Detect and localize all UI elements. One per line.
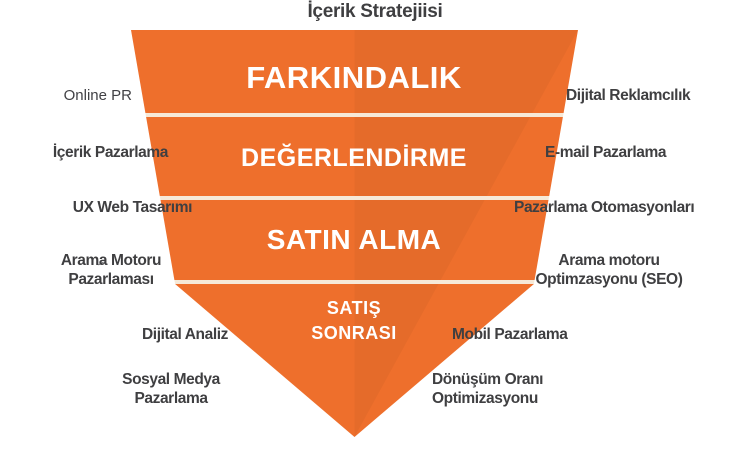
label-ux-web-tasarimi: UX Web Tasarımı — [0, 198, 192, 217]
label-pazarlama-otomasyonlari: Pazarlama Otomasyonları — [514, 198, 750, 217]
label-dijital-analiz: Dijital Analiz — [0, 325, 228, 344]
label-online-pr: Online PR — [0, 86, 132, 105]
funnel-divider-2 — [160, 196, 549, 200]
funnel-band-3-label: SATIN ALMA — [267, 224, 442, 255]
page-title: İçerik Stratejiisi — [0, 1, 750, 23]
funnel-band-4-label-line1: SATIŞ — [327, 298, 381, 318]
label-arama-motoru-optimizasyonu-seo: Arama motoru Optimzasyonu (SEO) — [484, 251, 734, 289]
funnel-band-1-label: FARKINDALIK — [246, 60, 462, 95]
label-email-pazarlama: E-mail Pazarlama — [545, 143, 745, 162]
label-donusum-orani-optimizasyonu: Dönüşüm Oranı Optimizasyonu — [432, 370, 632, 408]
label-sosyal-medya-pazarlama: Sosyal Medya Pazarlama — [60, 370, 282, 408]
funnel-band-4-shape — [175, 284, 534, 437]
funnel-band-1-shape — [131, 30, 578, 113]
funnel-divider-1 — [145, 113, 563, 117]
funnel-band-4-label-line2: SONRASI — [311, 323, 397, 343]
label-arama-motoru-pazarlamasi: Arama Motoru Pazarlaması — [0, 251, 222, 289]
label-icerik-pazarlama: İçerik Pazarlama — [0, 143, 168, 162]
funnel-divider-3 — [174, 280, 534, 284]
infographic-canvas: İçerik Stratejiisi FARKINDALIK DEĞERLEND… — [0, 0, 750, 450]
label-mobil-pazarlama: Mobil Pazarlama — [452, 325, 652, 344]
funnel-band-2-shape — [146, 117, 563, 196]
funnel-band-2-label: DEĞERLENDİRME — [241, 143, 467, 172]
label-dijital-reklamcilik: Dijital Reklamcılık — [566, 86, 750, 105]
